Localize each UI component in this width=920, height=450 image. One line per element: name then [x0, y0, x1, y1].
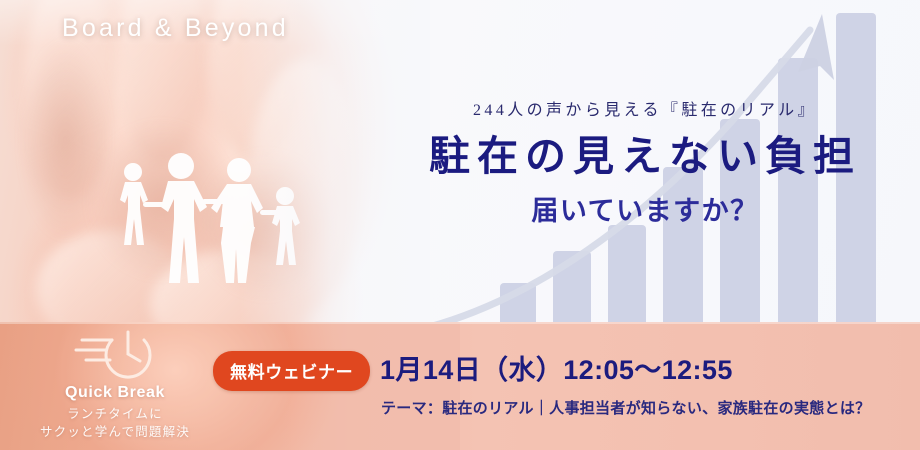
hero-eyebrow: 244人の声から見える『駐在のリアル』: [378, 96, 912, 120]
photo-shadow: [20, 40, 110, 240]
event-date: 1月14日（水）12:05〜12:55: [380, 348, 733, 387]
hero-subheadline: 届いていますか？: [378, 189, 912, 228]
brand-logo: Board & Beyond: [62, 14, 289, 43]
family-figure-adult-man: [161, 153, 207, 283]
quick-break-lockup: Quick Break ランチタイムに サクッと学んで問題解決: [30, 326, 200, 441]
quick-break-tagline-line1: ランチタイムに: [30, 405, 200, 423]
hands-photo: [0, 0, 430, 322]
webinar-banner: Board & Beyond 244人の声から見える『駐在のリアル』 駐在の見え…: [0, 0, 920, 450]
quick-break-tagline: ランチタイムに サクッと学んで問題解決: [30, 405, 200, 441]
quick-break-tagline-line2: サクッと学んで問題解決: [30, 423, 200, 441]
quick-break-title: Quick Break: [30, 384, 200, 402]
hero-text-block: 244人の声から見える『駐在のリアル』 駐在の見えない負担 届いていますか？: [378, 96, 912, 228]
hero-headline: 駐在の見えない負担: [378, 134, 912, 180]
free-webinar-badge: 無料ウェビナー: [213, 351, 370, 391]
event-theme: テーマ：駐在のリアル｜人事担当者が知らない、家族駐在の実態とは？: [381, 397, 870, 418]
footer-band-divider: [0, 322, 920, 324]
speed-clock-icon: [30, 326, 200, 382]
